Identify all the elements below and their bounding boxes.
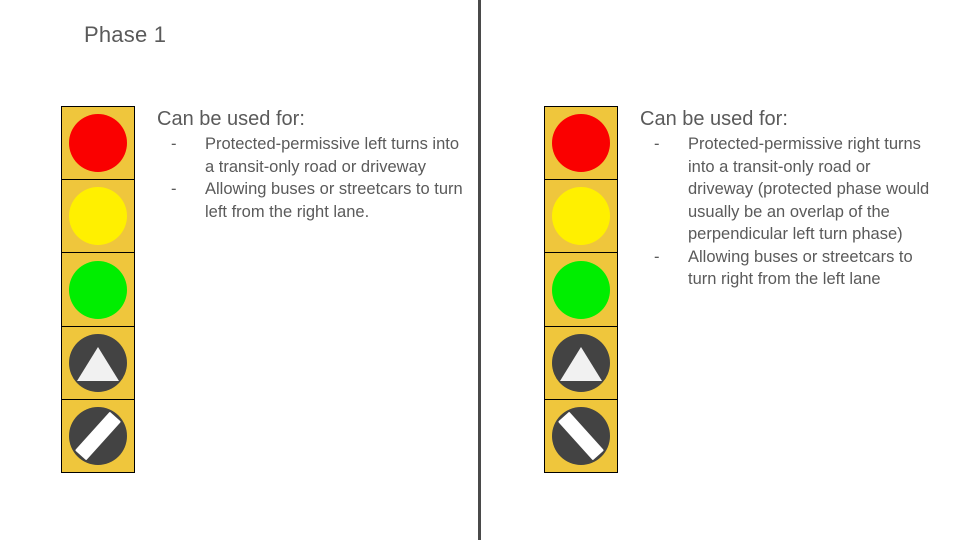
white-diagonal-bar-lamp-icon (552, 407, 610, 465)
bullet-marker: - (654, 246, 660, 269)
signal-section-green (62, 253, 134, 326)
list-item: - Protected-permissive left turns into a… (157, 133, 467, 178)
signal-section-triangle (62, 327, 134, 400)
yellow-lamp-icon (69, 187, 127, 245)
green-lamp-icon (69, 261, 127, 319)
signal-section-red (545, 107, 617, 180)
list-item: - Protected-permissive right turns into … (640, 133, 940, 246)
list-item-text: Allowing buses or streetcars to turn lef… (205, 180, 463, 221)
signal-section-yellow (62, 180, 134, 253)
red-lamp-icon (69, 114, 127, 172)
bullet-marker: - (171, 178, 177, 201)
white-up-triangle-lamp-icon (552, 334, 610, 392)
right-description-block: Can be used for: - Protected-permissive … (640, 106, 940, 291)
left-description-heading: Can be used for: (157, 106, 467, 132)
right-signal-head (544, 106, 618, 473)
left-description-block: Can be used for: - Protected-permissive … (157, 106, 467, 223)
green-lamp-icon (552, 261, 610, 319)
white-up-triangle-lamp-icon (69, 334, 127, 392)
signal-section-bar (62, 400, 134, 472)
page-title: Phase 1 (84, 21, 166, 49)
diagonal-bar-slash-icon (558, 412, 604, 461)
list-item-text: Allowing buses or streetcars to turn rig… (688, 248, 913, 289)
slide-canvas: Phase 1 Can be u (0, 0, 960, 540)
signal-section-yellow (545, 180, 617, 253)
up-triangle-icon (77, 347, 119, 381)
right-bullet-list: - Protected-permissive right turns into … (640, 133, 940, 291)
yellow-lamp-icon (552, 187, 610, 245)
left-bullet-list: - Protected-permissive left turns into a… (157, 133, 467, 223)
signal-section-bar (545, 400, 617, 472)
bullet-marker: - (171, 133, 177, 156)
left-signal-head (61, 106, 135, 473)
white-diagonal-bar-lamp-icon (69, 407, 127, 465)
signal-section-green (545, 253, 617, 326)
list-item-text: Protected-permissive left turns into a t… (205, 135, 459, 176)
list-item-text: Protected-permissive right turns into a … (688, 135, 929, 243)
right-panel: Can be used for: - Protected-permissive … (481, 0, 960, 540)
left-panel: Phase 1 Can be u (0, 0, 478, 540)
list-item: - Allowing buses or streetcars to turn r… (640, 246, 940, 291)
diagonal-bar-backslash-icon (75, 412, 121, 461)
signal-section-triangle (545, 327, 617, 400)
bullet-marker: - (654, 133, 660, 156)
up-triangle-icon (560, 347, 602, 381)
signal-section-red (62, 107, 134, 180)
red-lamp-icon (552, 114, 610, 172)
list-item: - Allowing buses or streetcars to turn l… (157, 178, 467, 223)
right-description-heading: Can be used for: (640, 106, 940, 132)
